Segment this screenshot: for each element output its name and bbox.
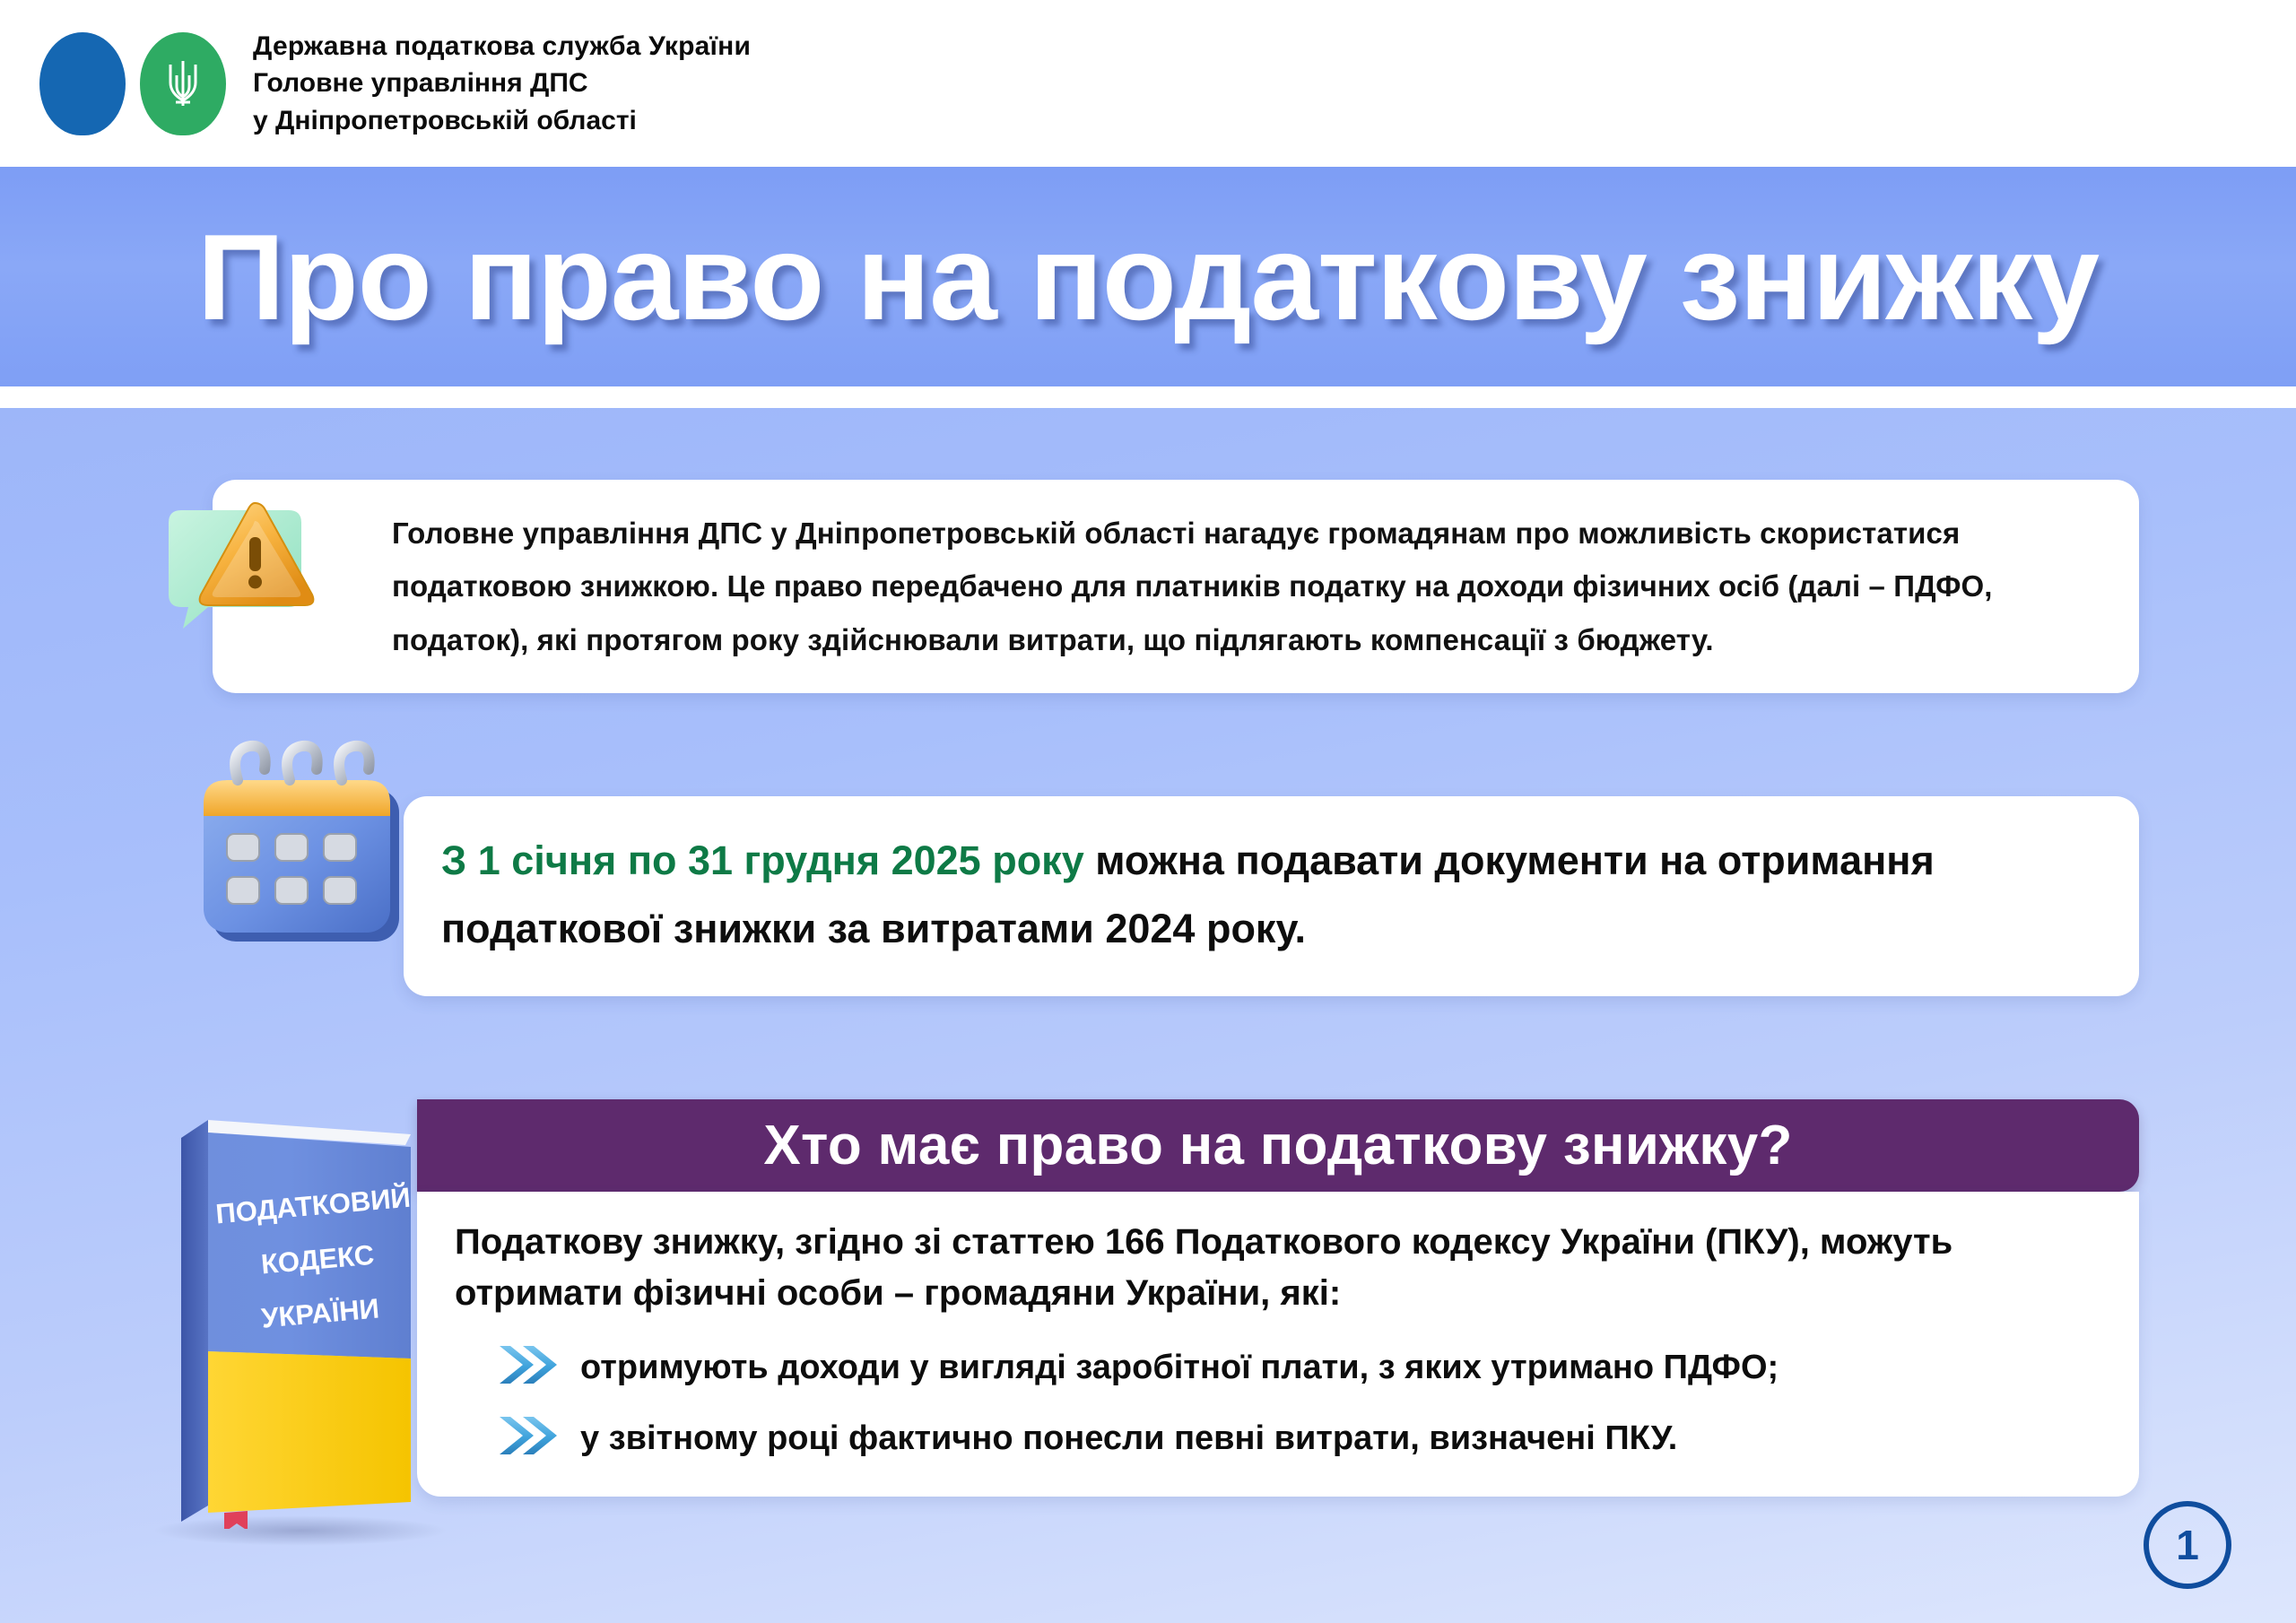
banner-divider [0, 386, 2296, 408]
who-qualifies-banner: Хто має право на податкову знижку? [417, 1099, 2139, 1192]
calendar-icon [175, 733, 444, 976]
who-qualifies-title: Хто має право на податкову знижку? [763, 1114, 1792, 1177]
ukraine-trident-emblem-icon [140, 32, 226, 135]
double-chevron-right-icon [496, 1342, 562, 1387]
list-item: отримують доходи у вигляді заробітної пл… [455, 1342, 2100, 1390]
page-title: Про право на податкову знижку [197, 207, 2099, 347]
list-item-text: у звітному році фактично понесли певні в… [580, 1413, 1677, 1461]
who-qualifies-card: Податкову знижку, згідно зі статтею 166 … [417, 1192, 2139, 1497]
title-banner: Про право на податкову знижку [0, 167, 2296, 386]
header-text-block: Державна податкова служба України Головн… [253, 28, 751, 139]
list-item: у звітному році фактично понесли певні в… [455, 1413, 2100, 1461]
page-number-badge: 1 [2144, 1501, 2231, 1589]
double-chevron-right-icon [496, 1413, 562, 1458]
tax-code-book-icon: ПОДАТКОВИЙ КОДЕКС УКРАЇНИ [170, 1107, 439, 1529]
org-name-line-2: Головне управління ДПС [253, 65, 751, 101]
list-item-text: отримують доходи у вигляді заробітної пл… [580, 1342, 1779, 1390]
deadline-highlight: З 1 січня по 31 грудня 2025 року [441, 838, 1084, 883]
org-name-line-1: Державна податкова служба України [253, 28, 751, 65]
page-header: Державна податкова служба України Головн… [0, 0, 2296, 167]
intro-paragraph: Головне управління ДПС у Дніпропетровськ… [392, 507, 2096, 666]
logo-group [39, 32, 226, 135]
org-name-line-3: у Дніпропетровській області [253, 102, 751, 139]
deadline-card: З 1 січня по 31 грудня 2025 року можна п… [404, 796, 2139, 996]
warning-triangle-icon [152, 480, 359, 668]
deadline-text: З 1 січня по 31 грудня 2025 року можна п… [441, 827, 2098, 962]
who-qualifies-intro: Податкову знижку, згідно зі статтею 166 … [455, 1217, 2100, 1319]
intro-card: Головне управління ДПС у Дніпропетровськ… [213, 480, 2139, 693]
dps-blue-emblem-icon [39, 32, 126, 135]
